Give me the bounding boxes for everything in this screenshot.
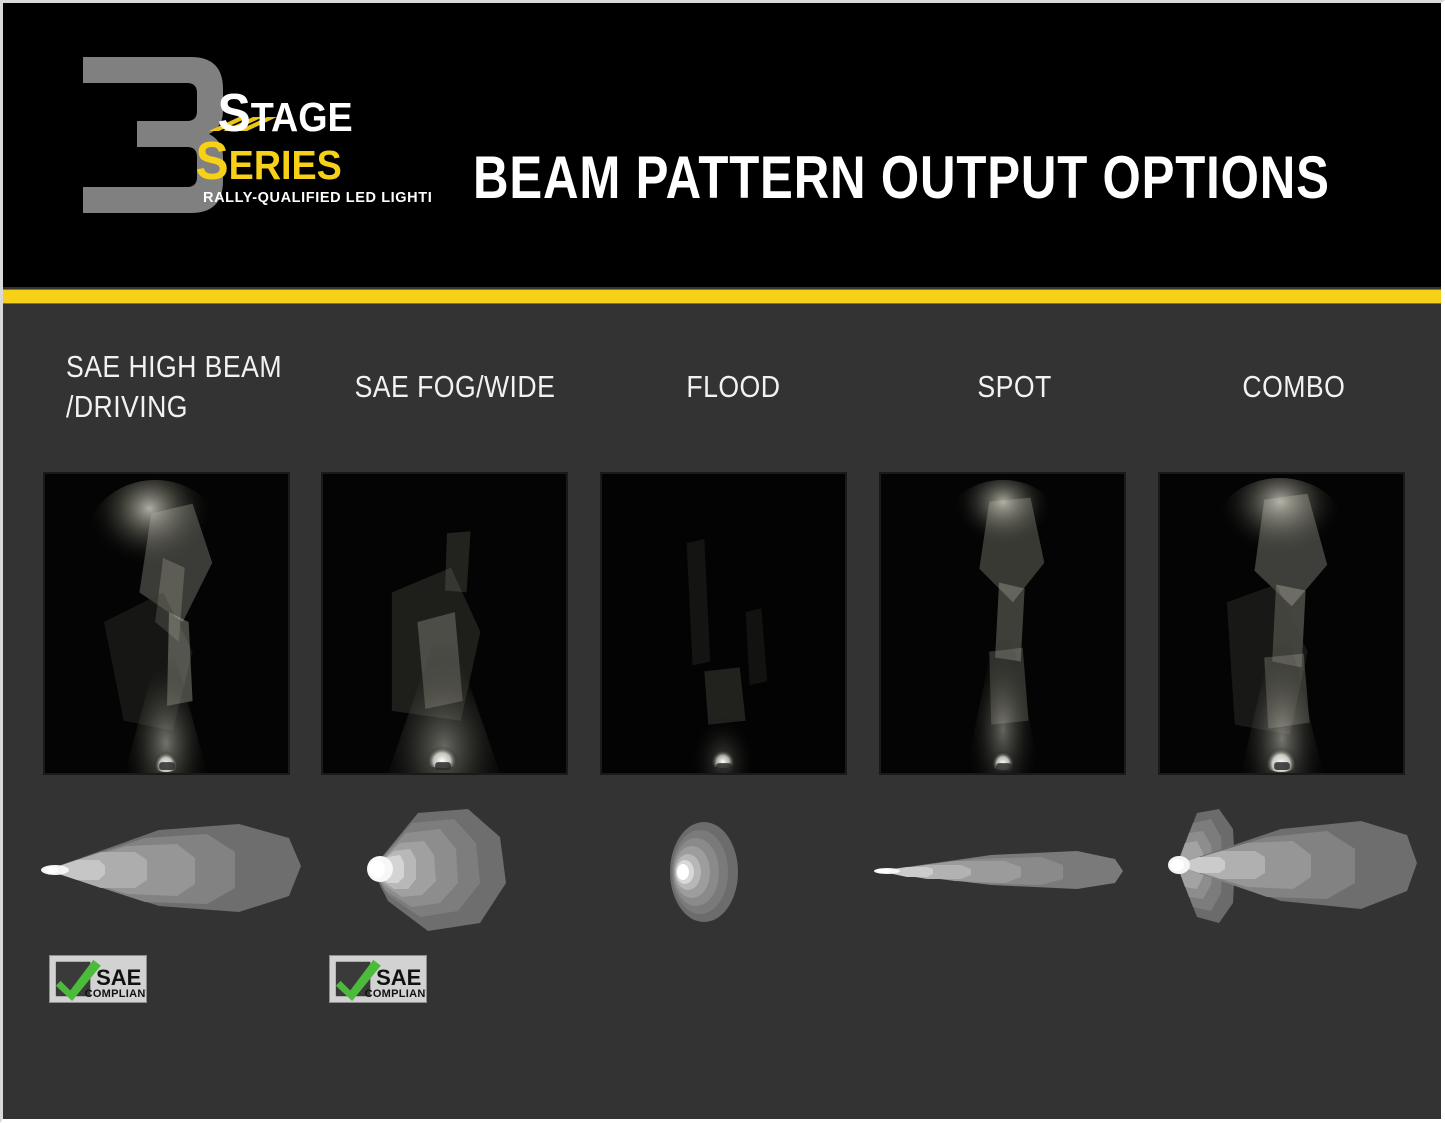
beam-shape-wide-fan <box>358 797 518 947</box>
beam-diagram-combo <box>1151 799 1441 934</box>
beam-diagram-sae-high-beam-driving <box>39 804 329 939</box>
sae-badge-line2: COMPLIANT <box>85 988 146 1000</box>
beam-shape-round-flood <box>648 812 778 932</box>
svg-text:TAGE: TAGE <box>251 95 353 141</box>
sae-compliant-artwork: SAE COMPLIANT <box>330 956 426 1002</box>
logo-tagline-text: RALLY-QUALIFIED LED LIGHTING <box>203 190 431 206</box>
sae-badge-line2: COMPLIANT <box>365 988 426 1000</box>
beam-diagram-flood <box>648 812 778 932</box>
column-label-spot: SPOT <box>977 367 1166 407</box>
page-title: BEAM PATTERN OUTPUT OPTIONS <box>473 145 1252 215</box>
logo-artwork: S TAGE S ERIES RALLY-QUALIFIED LED LIGHT… <box>41 39 431 229</box>
column-label-sae-high-beam-driving: SAE HIGH BEAM /DRIVING <box>66 347 324 427</box>
beam-photo-spot <box>879 472 1126 775</box>
stage-series-logo: S TAGE S ERIES RALLY-QUALIFIED LED LIGHT… <box>41 39 431 229</box>
sae-badge-line1: SAE <box>376 965 421 990</box>
beam-shape-long-wide-taper <box>39 804 329 939</box>
beam-shape-combo <box>1151 799 1441 934</box>
column-label-combo: COMBO <box>1242 367 1431 407</box>
night-road-photo <box>45 474 288 773</box>
sae-compliant-badge: SAE COMPLIANT <box>49 955 147 1003</box>
beam-photo-sae-high-beam-driving <box>43 472 290 775</box>
accent-divider <box>3 289 1441 304</box>
night-road-photo <box>1160 474 1403 773</box>
beam-diagram-spot <box>871 827 1141 917</box>
svg-text:ERIES: ERIES <box>229 143 342 189</box>
sae-compliant-artwork: SAE COMPLIANT <box>50 956 146 1002</box>
beam-options-grid: SAE HIGH BEAM /DRIVING SAE FOG/WIDE FLOO… <box>3 304 1441 1119</box>
sae-badge-line1: SAE <box>96 965 141 990</box>
beam-photo-combo <box>1158 472 1405 775</box>
beam-shape-narrow-spot <box>871 827 1141 917</box>
beam-photo-sae-fog-wide <box>321 472 568 775</box>
beam-diagram-sae-fog-wide <box>358 797 518 947</box>
night-road-photo <box>881 474 1124 773</box>
beam-option-column: SAE HIGH BEAM /DRIVING SAE FOG/WIDE FLOO… <box>3 304 1441 1119</box>
beam-pattern-poster: S TAGE S ERIES RALLY-QUALIFIED LED LIGHT… <box>0 0 1445 1123</box>
sae-compliant-badge: SAE COMPLIANT <box>329 955 427 1003</box>
night-road-photo <box>602 474 845 773</box>
poster-header: S TAGE S ERIES RALLY-QUALIFIED LED LIGHT… <box>3 3 1441 287</box>
night-road-photo <box>323 474 566 773</box>
beam-photo-flood <box>600 472 847 775</box>
logo-series-text: S <box>196 130 228 190</box>
column-label-flood: FLOOD <box>686 367 875 407</box>
column-label-sae-fog-wide: SAE FOG/WIDE <box>355 367 596 407</box>
